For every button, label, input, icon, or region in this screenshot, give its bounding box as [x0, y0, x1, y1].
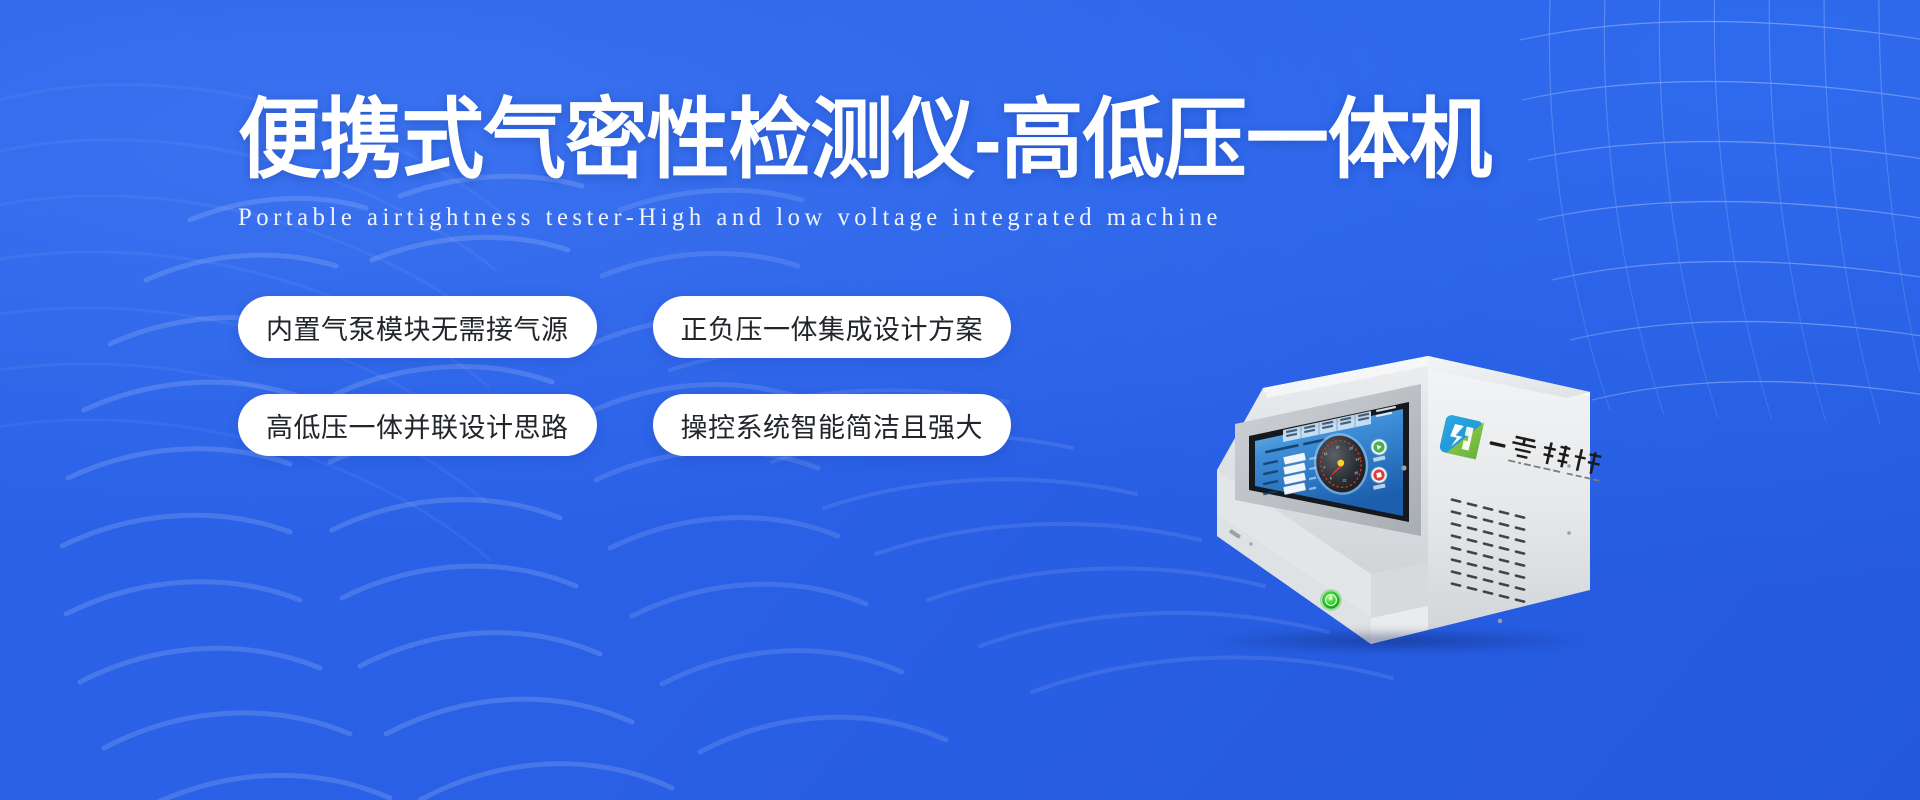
feature-pill-1[interactable]: 内置气泵模块无需接气源 [238, 296, 597, 358]
feature-pill-4[interactable]: 操控系统智能简洁且强大 [653, 394, 1012, 456]
feature-pill-3[interactable]: 高低压一体并联设计思路 [238, 394, 597, 456]
product-image: 121620 242832 84 [1175, 318, 1625, 658]
feature-pill-2[interactable]: 正负压一体集成设计方案 [653, 296, 1012, 358]
promo-banner: 便携式气密性检测仪-高低压一体机 Portable airtightness t… [0, 0, 1920, 800]
product-shadow [1205, 628, 1585, 654]
page-subtitle: Portable airtightness tester-High and lo… [238, 204, 1351, 232]
power-button[interactable] [1320, 589, 1342, 611]
device-illustration: 121620 242832 84 [1175, 318, 1625, 658]
page-title: 便携式气密性检测仪-高低压一体机 [238, 96, 1300, 184]
